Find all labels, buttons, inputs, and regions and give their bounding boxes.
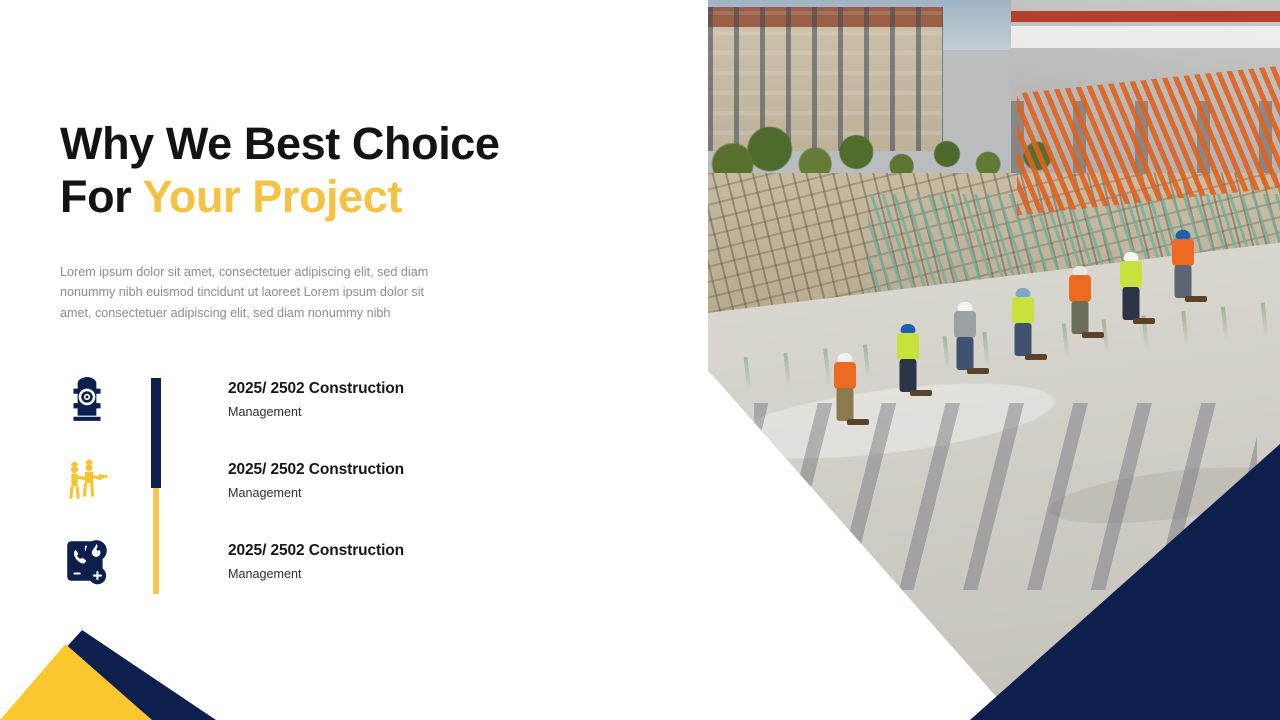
list-item-title: 2025/ 2502 Construction [228,380,404,398]
list-item-text: 2025/ 2502 Construction Management [228,461,404,500]
fire-hydrant-target-icon [60,372,114,426]
list-item[interactable]: 2025/ 2502 Construction Management [60,534,510,615]
heading-line-2-plain: For [60,171,143,222]
list-item-text: 2025/ 2502 Construction Management [228,380,404,419]
list-item-title: 2025/ 2502 Construction [228,542,404,560]
intro-paragraph: Lorem ipsum dolor sit amet, consectetuer… [60,262,458,323]
list-item-subtitle: Management [228,486,404,500]
list-item-title: 2025/ 2502 Construction [228,461,404,479]
construction-workers-icon [60,453,114,507]
list-item-text: 2025/ 2502 Construction Management [228,542,404,581]
list-item-subtitle: Management [228,567,404,581]
list-item[interactable]: 2025/ 2502 Construction Management [60,453,510,534]
page-title: Why We Best Choice For Your Project [60,118,580,223]
heading-line-2-highlight: Your Project [143,171,402,222]
heading-line-1: Why We Best Choice [60,118,500,169]
list-item[interactable]: 2025/ 2502 Construction Management [60,372,510,453]
feature-list: 2025/ 2502 Construction Management [60,372,510,615]
emergency-call-fire-icon [60,534,114,588]
list-item-subtitle: Management [228,405,404,419]
